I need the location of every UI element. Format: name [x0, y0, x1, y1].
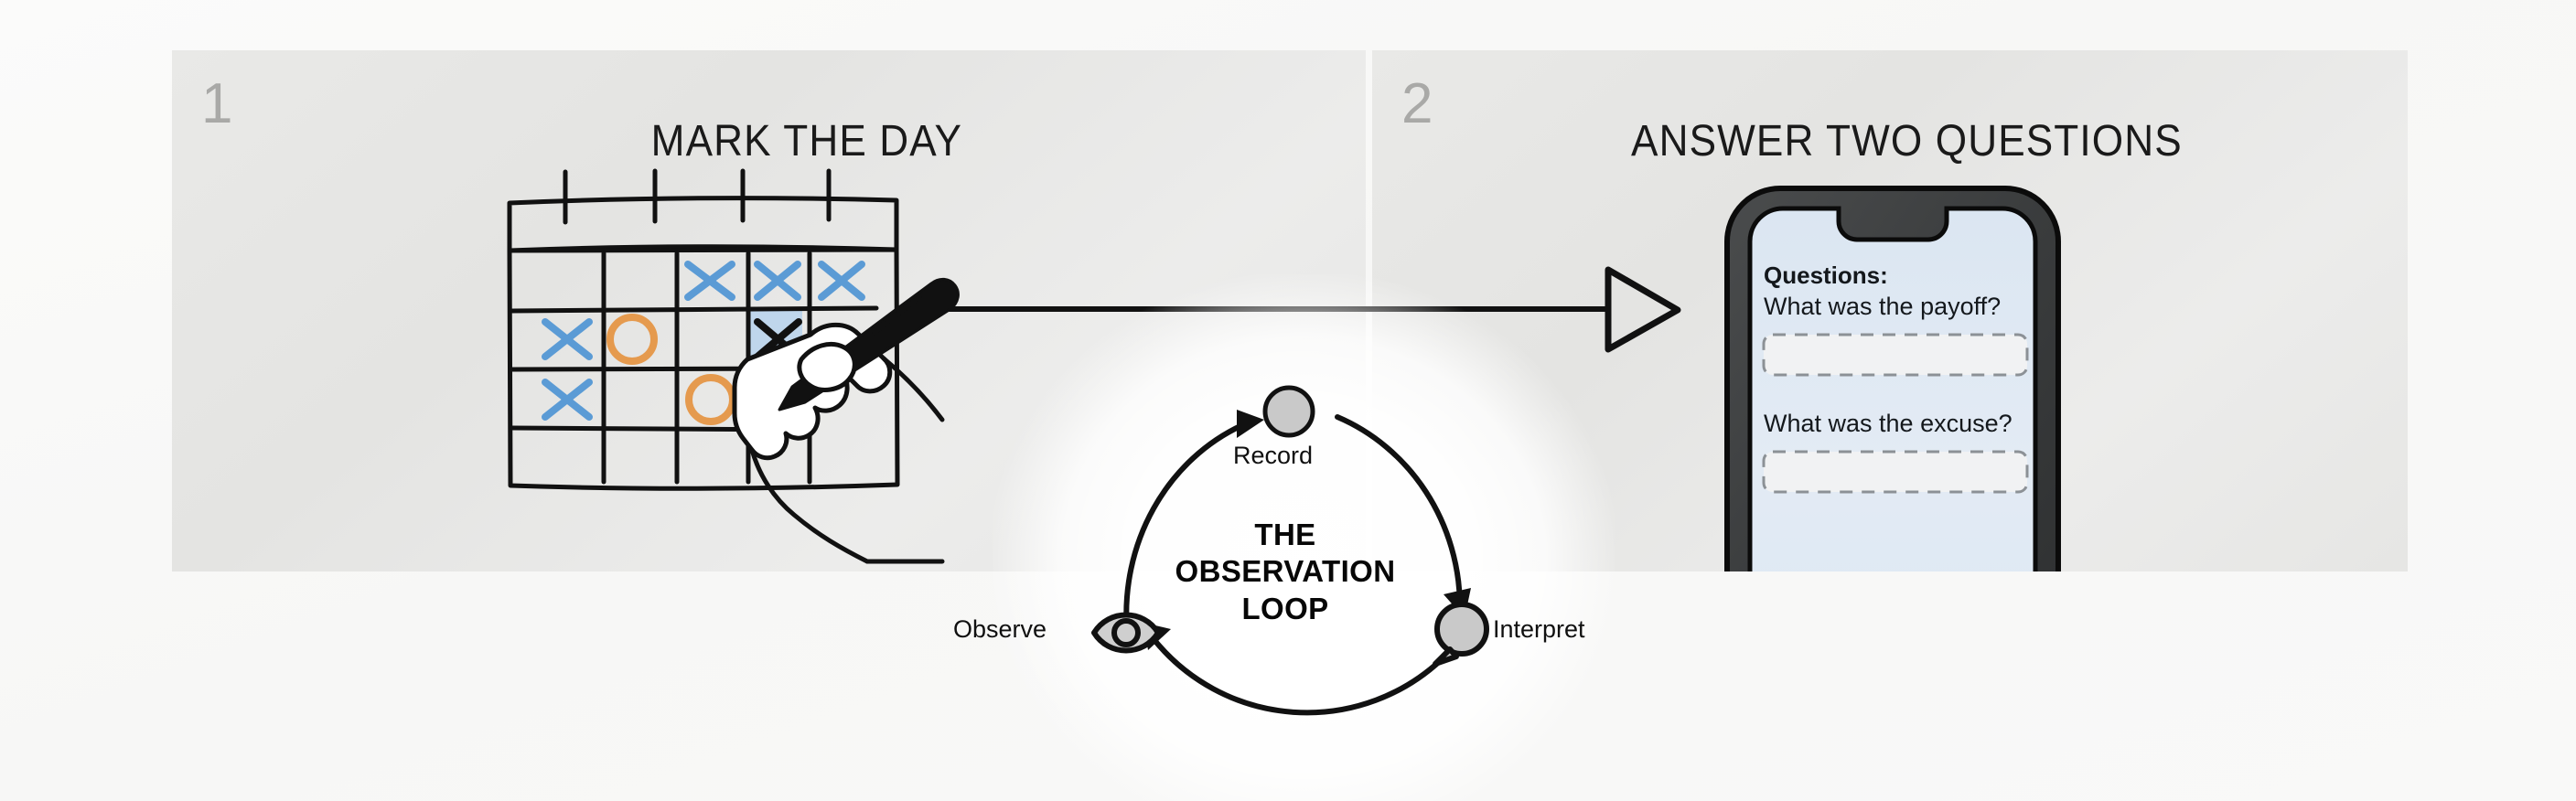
loop-label-observe: Observe	[953, 615, 1046, 644]
speech-bubble-icon[interactable]	[1435, 604, 1487, 664]
circle-icon[interactable]	[1265, 388, 1313, 435]
loop-label-record: Record	[1233, 442, 1313, 470]
loop-title-line-2: OBSERVATION	[1143, 553, 1427, 590]
loop-center-title: THE OBSERVATION LOOP	[1143, 517, 1427, 627]
loop-arrowhead-record	[1237, 410, 1264, 438]
loop-title-line-1: THE	[1143, 517, 1427, 553]
observation-loop-diagram	[0, 0, 2576, 801]
loop-label-interpret: Interpret	[1493, 615, 1585, 644]
loop-title-line-3: LOOP	[1143, 591, 1427, 627]
infographic-canvas: 1 MARK THE DAY 2 ANSWER TWO QUESTIONS	[0, 0, 2576, 801]
loop-arc-interpret-to-observe	[1154, 640, 1441, 712]
